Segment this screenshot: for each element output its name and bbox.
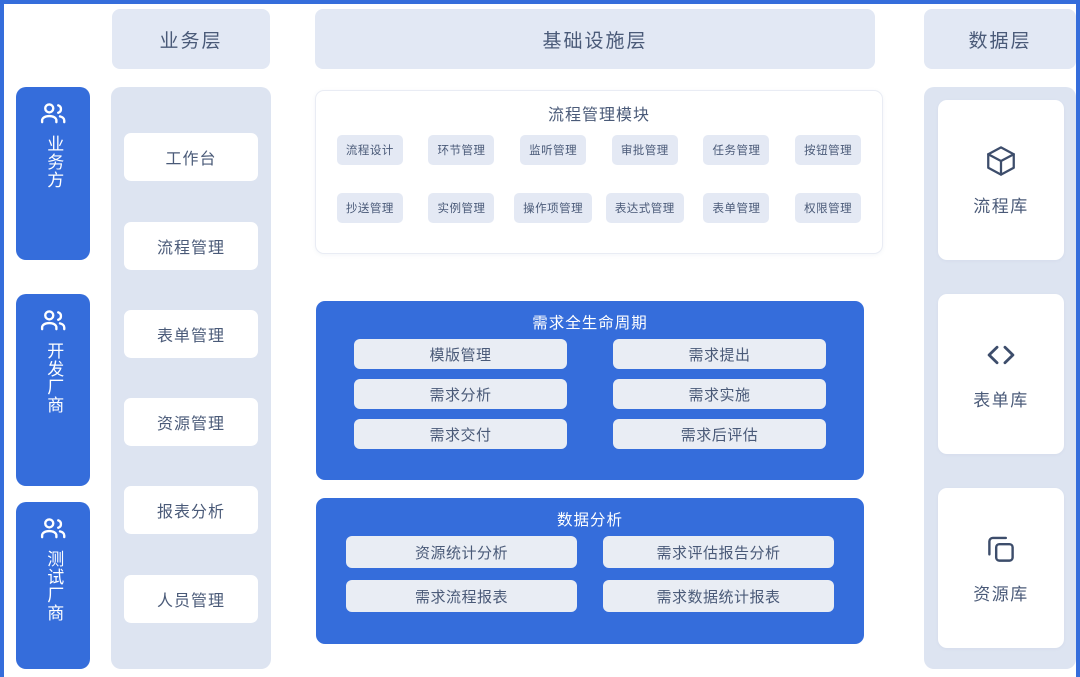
group-title: 需求全生命周期 bbox=[316, 301, 864, 333]
process-tag[interactable]: 权限管理 bbox=[795, 193, 861, 223]
data-analysis-group: 数据分析 资源统计分析 需求评估报告分析 需求流程报表 需求数据统计报表 bbox=[316, 498, 864, 644]
users-icon bbox=[38, 514, 68, 544]
lifecycle-chip-grid: 模版管理 需求提出 需求分析 需求实施 需求交付 需求后评估 bbox=[316, 333, 864, 449]
analytics-chip-grid: 资源统计分析 需求评估报告分析 需求流程报表 需求数据统计报表 bbox=[316, 530, 864, 612]
process-tag[interactable]: 操作项管理 bbox=[514, 193, 592, 223]
process-tag[interactable]: 表单管理 bbox=[703, 193, 769, 223]
data-card-process-library[interactable]: 流程库 bbox=[938, 100, 1064, 260]
role-label: 开发厂商 bbox=[42, 342, 64, 414]
business-item-process-mgmt[interactable]: 流程管理 bbox=[124, 222, 258, 270]
role-card-dev-vendor[interactable]: 开发厂商 bbox=[16, 294, 90, 486]
process-tag[interactable]: 抄送管理 bbox=[337, 193, 403, 223]
data-card-form-library[interactable]: 表单库 bbox=[938, 294, 1064, 454]
role-label: 测试厂商 bbox=[42, 550, 64, 622]
process-tag[interactable]: 实例管理 bbox=[428, 193, 494, 223]
analytics-chip[interactable]: 资源统计分析 bbox=[346, 536, 577, 568]
lifecycle-chip[interactable]: 模版管理 bbox=[354, 339, 567, 369]
analytics-chip[interactable]: 需求流程报表 bbox=[346, 580, 577, 612]
group-title: 数据分析 bbox=[316, 498, 864, 530]
data-layer-list: 流程库 表单库 资源库 bbox=[938, 98, 1064, 658]
process-tag[interactable]: 环节管理 bbox=[428, 135, 494, 165]
role-card-test-vendor[interactable]: 测试厂商 bbox=[16, 502, 90, 669]
analytics-chip[interactable]: 需求评估报告分析 bbox=[603, 536, 834, 568]
process-tag[interactable]: 按钮管理 bbox=[795, 135, 861, 165]
data-card-label: 流程库 bbox=[973, 192, 1029, 217]
process-module-title: 流程管理模块 bbox=[328, 101, 870, 125]
layer-header-data: 数据层 bbox=[924, 9, 1076, 69]
requirement-lifecycle-group: 需求全生命周期 模版管理 需求提出 需求分析 需求实施 需求交付 需求后评估 bbox=[316, 301, 864, 480]
copy-squares-icon bbox=[984, 532, 1018, 566]
lifecycle-chip[interactable]: 需求实施 bbox=[613, 379, 826, 409]
data-card-label: 资源库 bbox=[973, 580, 1029, 605]
lifecycle-chip[interactable]: 需求提出 bbox=[613, 339, 826, 369]
users-icon bbox=[38, 99, 68, 129]
role-card-business-party[interactable]: 业务方 bbox=[16, 87, 90, 260]
lifecycle-chip[interactable]: 需求交付 bbox=[354, 419, 567, 449]
business-layer-list: 工作台 流程管理 表单管理 资源管理 报表分析 人员管理 bbox=[124, 87, 258, 669]
analytics-chip[interactable]: 需求数据统计报表 bbox=[603, 580, 834, 612]
business-item-report-analysis[interactable]: 报表分析 bbox=[124, 486, 258, 534]
process-tag[interactable]: 监听管理 bbox=[520, 135, 586, 165]
cube-icon bbox=[984, 144, 1018, 178]
process-tag[interactable]: 流程设计 bbox=[337, 135, 403, 165]
lifecycle-chip[interactable]: 需求分析 bbox=[354, 379, 567, 409]
data-card-label: 表单库 bbox=[973, 386, 1029, 411]
business-item-personnel-mgmt[interactable]: 人员管理 bbox=[124, 575, 258, 623]
business-item-form-mgmt[interactable]: 表单管理 bbox=[124, 310, 258, 358]
data-card-resource-library[interactable]: 资源库 bbox=[938, 488, 1064, 648]
process-tag[interactable]: 审批管理 bbox=[612, 135, 678, 165]
layer-header-business: 业务层 bbox=[112, 9, 270, 69]
process-module-tag-grid: 流程设计 环节管理 监听管理 审批管理 任务管理 按钮管理 抄送管理 实例管理 … bbox=[328, 135, 870, 223]
process-tag[interactable]: 任务管理 bbox=[703, 135, 769, 165]
layer-header-infrastructure: 基础设施层 bbox=[315, 9, 875, 69]
code-brackets-icon bbox=[984, 338, 1018, 372]
users-icon bbox=[38, 306, 68, 336]
architecture-diagram: 业务层 基础设施层 数据层 业务方 开发厂商 bbox=[0, 0, 1080, 677]
process-tag[interactable]: 表达式管理 bbox=[606, 193, 684, 223]
business-item-resource-mgmt[interactable]: 资源管理 bbox=[124, 398, 258, 446]
business-item-workbench[interactable]: 工作台 bbox=[124, 133, 258, 181]
lifecycle-chip[interactable]: 需求后评估 bbox=[613, 419, 826, 449]
role-label: 业务方 bbox=[42, 135, 64, 189]
process-management-module: 流程管理模块 流程设计 环节管理 监听管理 审批管理 任务管理 按钮管理 抄送管… bbox=[315, 90, 883, 254]
